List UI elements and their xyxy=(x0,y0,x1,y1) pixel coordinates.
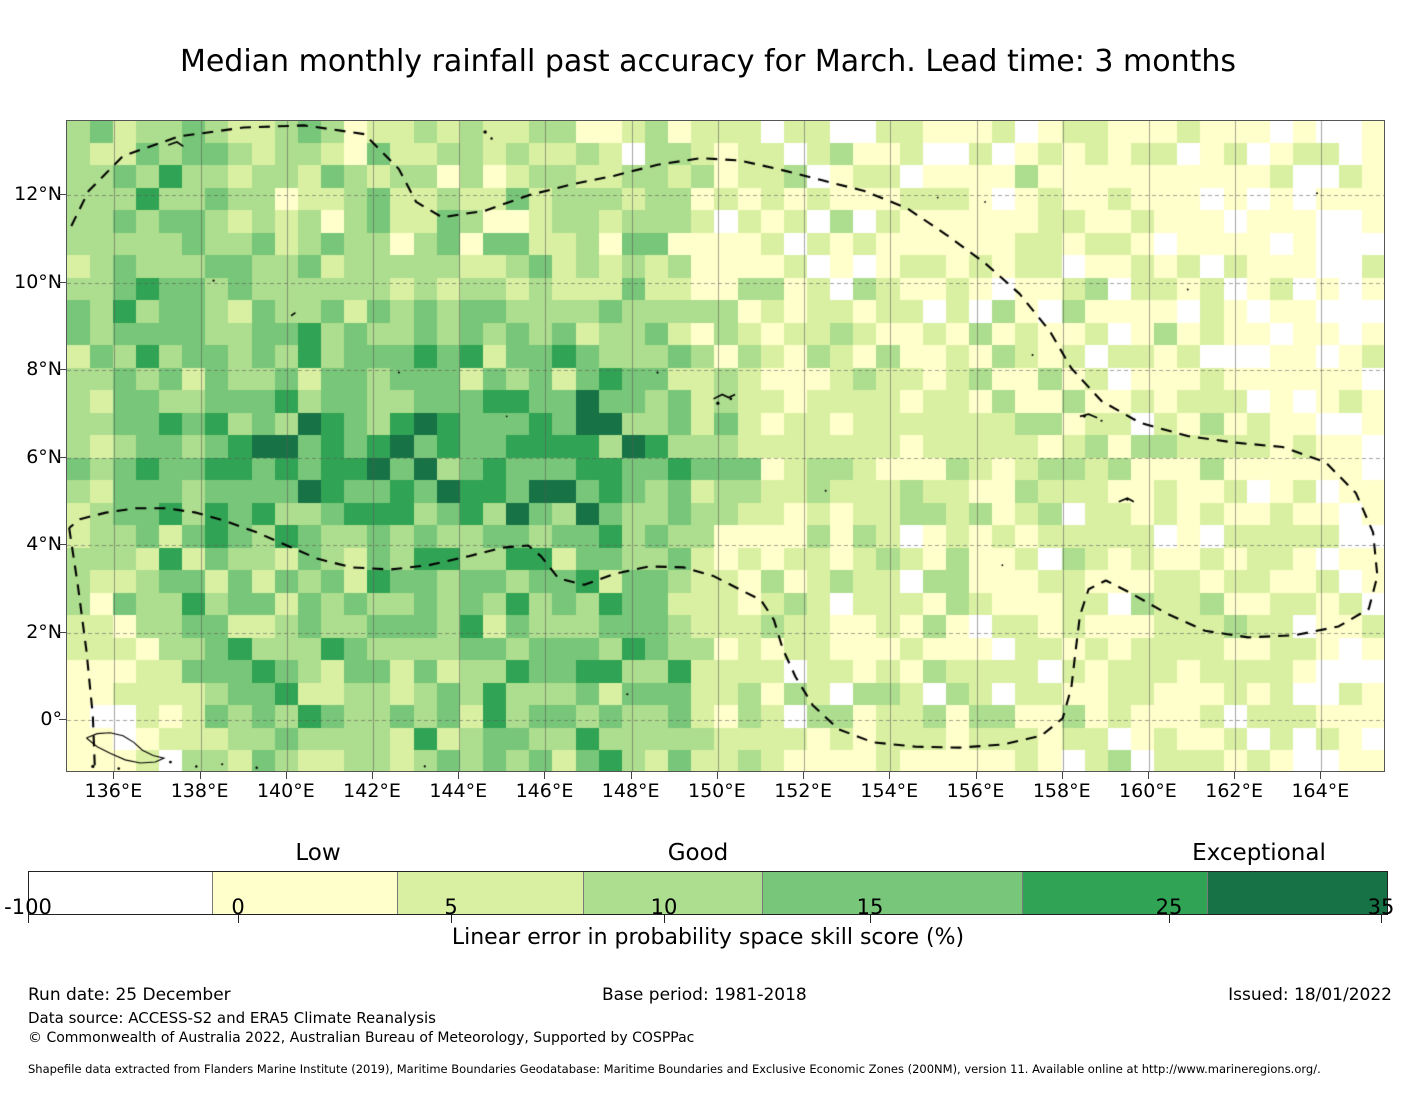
x-axis-tick-label: 148°E xyxy=(602,780,660,802)
climate-map-page: Median monthly rainfall past accuracy fo… xyxy=(0,0,1416,1095)
x-axis-tick-label: 142°E xyxy=(343,780,401,802)
y-axis-tick-mark xyxy=(59,194,66,195)
x-axis-tick-mark xyxy=(976,772,977,779)
colorbar-axis-title: Linear error in probability space skill … xyxy=(0,925,1416,950)
x-axis-tick-label: 138°E xyxy=(171,780,229,802)
x-axis-tick-mark xyxy=(1234,772,1235,779)
x-axis-tick-label: 158°E xyxy=(1033,780,1091,802)
y-axis-tick-mark xyxy=(59,719,66,720)
colorbar-category-label: Exceptional xyxy=(1192,840,1326,866)
y-axis-tick-mark xyxy=(59,282,66,283)
x-axis-tick-label: 152°E xyxy=(774,780,832,802)
colorbar-tick-label: 35 xyxy=(1368,895,1395,919)
shapefile-attribution-text: Shapefile data extracted from Flanders M… xyxy=(28,1062,1321,1076)
x-axis-tick-mark xyxy=(889,772,890,779)
colorbar-tick-label: 25 xyxy=(1156,895,1183,919)
x-axis-tick-mark xyxy=(1148,772,1149,779)
x-axis-tick-label: 144°E xyxy=(429,780,487,802)
issued-date-text: Issued: 18/01/2022 xyxy=(1228,985,1392,1005)
y-axis-tick-mark xyxy=(59,457,66,458)
base-period-text: Base period: 1981-2018 xyxy=(602,985,807,1005)
x-axis-tick-mark xyxy=(286,772,287,779)
x-axis-tick-mark xyxy=(544,772,545,779)
x-axis-tick-mark xyxy=(1062,772,1063,779)
colorbar-segment xyxy=(762,872,1022,914)
skill-score-heatmap xyxy=(67,121,1385,772)
colorbar-category-label: Good xyxy=(668,840,729,866)
y-axis-tick-label: 6°N xyxy=(26,446,62,468)
y-axis-tick-label: 12°N xyxy=(14,183,62,205)
x-axis-tick-mark xyxy=(631,772,632,779)
colorbar-segment xyxy=(397,872,582,914)
x-axis-tick-mark xyxy=(717,772,718,779)
y-axis-tick-mark xyxy=(59,369,66,370)
y-axis-tick-label: 4°N xyxy=(26,533,62,555)
x-axis-tick-label: 136°E xyxy=(85,780,143,802)
x-axis-tick-mark xyxy=(113,772,114,779)
x-axis-tick-label: 154°E xyxy=(860,780,918,802)
y-axis-tick-label: 8°N xyxy=(26,358,62,380)
x-axis-tick-mark xyxy=(803,772,804,779)
x-axis-tick-mark xyxy=(200,772,201,779)
x-axis-tick-label: 140°E xyxy=(257,780,315,802)
colorbar-category-label: Low xyxy=(295,840,340,866)
colorbar-tick-label: 10 xyxy=(651,895,678,919)
x-axis-tick-mark xyxy=(1320,772,1321,779)
colorbar-tick-label: 0 xyxy=(231,895,244,919)
x-axis-tick-label: 156°E xyxy=(947,780,1005,802)
y-axis-tick-mark xyxy=(59,544,66,545)
colorbar-segment xyxy=(1207,872,1387,914)
data-source-text: Data source: ACCESS-S2 and ERA5 Climate … xyxy=(28,1009,436,1027)
page-title: Median monthly rainfall past accuracy fo… xyxy=(0,44,1416,79)
x-axis-tick-label: 162°E xyxy=(1205,780,1263,802)
x-axis-tick-label: 164°E xyxy=(1291,780,1349,802)
x-axis-tick-mark xyxy=(458,772,459,779)
x-axis-tick-mark xyxy=(372,772,373,779)
colorbar-tick-label: -100 xyxy=(4,895,52,919)
y-axis-tick-mark xyxy=(59,632,66,633)
footer-row-primary: Run date: 25 December Base period: 1981-… xyxy=(0,985,1416,1007)
run-date-text: Run date: 25 December xyxy=(28,985,231,1005)
colorbar-tick-label: 15 xyxy=(857,895,884,919)
colorbar-segment xyxy=(29,872,212,914)
y-axis-tick-label: 2°N xyxy=(26,621,62,643)
copyright-text: © Commonwealth of Australia 2022, Austra… xyxy=(28,1030,694,1046)
x-axis-tick-label: 150°E xyxy=(688,780,746,802)
x-axis-tick-label: 146°E xyxy=(516,780,574,802)
x-axis-tick-label: 160°E xyxy=(1119,780,1177,802)
map-plot-area[interactable] xyxy=(66,120,1385,772)
y-axis-tick-label: 10°N xyxy=(14,271,62,293)
colorbar-tick-label: 5 xyxy=(444,895,457,919)
